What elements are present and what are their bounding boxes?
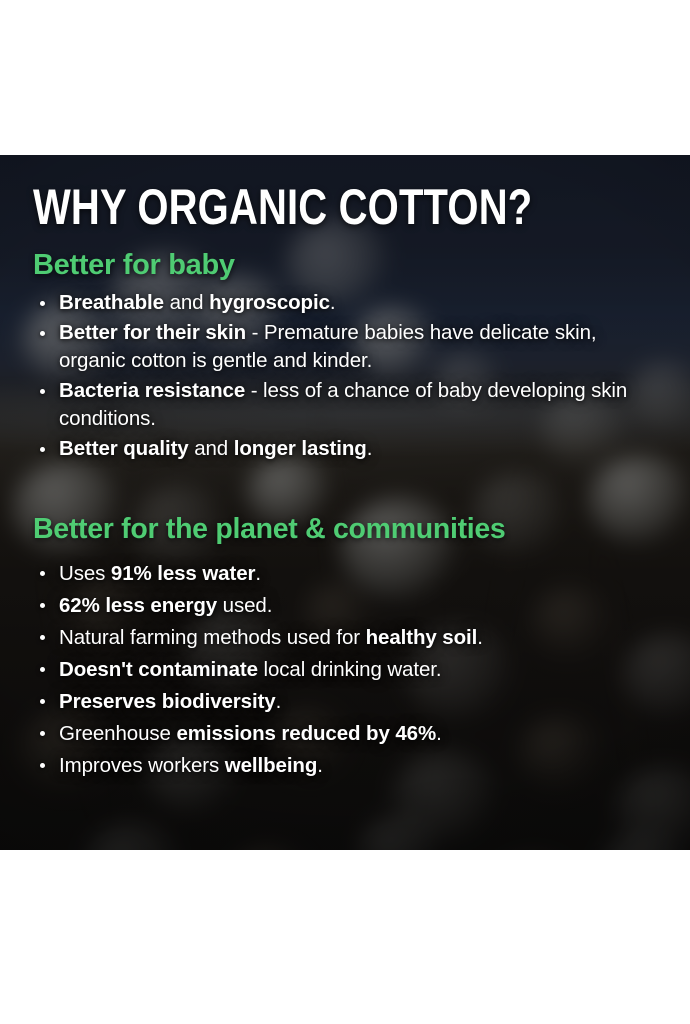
body-text: and	[189, 437, 234, 460]
section-better-for-planet: Better for the planet & communities Uses…	[33, 515, 660, 781]
emphasis-text: longer lasting	[234, 437, 367, 460]
emphasis-text: emissions reduced by 46%	[176, 722, 436, 745]
list-item: Better quality and longer lasting.	[33, 435, 660, 463]
body-text: used.	[217, 594, 272, 617]
list-item: Breathable and hygroscopic.	[33, 289, 660, 317]
section-heading-baby: Better for baby	[33, 250, 660, 280]
emphasis-text: Better quality	[59, 437, 189, 460]
bullet-list-planet: Uses 91% less water.62% less energy used…	[33, 559, 660, 781]
emphasis-text: 91% less water	[111, 562, 255, 585]
body-text: Natural farming methods used for	[59, 626, 366, 649]
body-text: .	[276, 690, 282, 713]
list-item: Preserves biodiversity.	[33, 687, 660, 716]
body-text: .	[255, 562, 261, 585]
list-item: Uses 91% less water.	[33, 559, 660, 588]
list-item: Doesn't contaminate local drinking water…	[33, 655, 660, 684]
list-item: Better for their skin - Premature babies…	[33, 319, 660, 375]
body-text: Improves workers	[59, 754, 225, 777]
list-item: Greenhouse emissions reduced by 46%.	[33, 719, 660, 748]
emphasis-text: hygroscopic	[209, 291, 330, 314]
cotton-boll	[84, 823, 180, 850]
emphasis-text: wellbeing	[225, 754, 318, 777]
emphasis-text: Doesn't contaminate	[59, 658, 258, 681]
infographic-content: WHY ORGANIC COTTON? Better for baby Brea…	[0, 155, 690, 780]
section-heading-planet: Better for the planet & communities	[33, 515, 660, 545]
body-text: .	[477, 626, 483, 649]
bullet-list-baby: Breathable and hygroscopic.Better for th…	[33, 289, 660, 462]
cotton-boll	[358, 815, 438, 850]
section-better-for-baby: Better for baby Breathable and hygroscop…	[33, 250, 660, 463]
list-item: 62% less energy used.	[33, 591, 660, 620]
body-text: local drinking water.	[258, 658, 442, 681]
cotton-boll	[226, 845, 314, 850]
body-text: .	[436, 722, 442, 745]
page-root: WHY ORGANIC COTTON? Better for baby Brea…	[0, 0, 690, 1024]
emphasis-text: Bacteria resistance	[59, 379, 245, 402]
emphasis-text: Preserves biodiversity	[59, 690, 276, 713]
list-item: Natural farming methods used for healthy…	[33, 623, 660, 652]
infographic-panel: WHY ORGANIC COTTON? Better for baby Brea…	[0, 155, 690, 850]
body-text: Uses	[59, 562, 111, 585]
body-text: Greenhouse	[59, 722, 176, 745]
emphasis-text: 62% less energy	[59, 594, 217, 617]
page-title: WHY ORGANIC COTTON?	[33, 182, 535, 232]
body-text: .	[330, 291, 336, 314]
emphasis-text: healthy soil	[366, 626, 478, 649]
body-text: .	[367, 437, 373, 460]
emphasis-text: Breathable	[59, 291, 164, 314]
body-text: and	[164, 291, 209, 314]
emphasis-text: Better for their skin	[59, 321, 246, 344]
list-item: Bacteria resistance - less of a chance o…	[33, 377, 660, 433]
body-text: .	[317, 754, 323, 777]
list-item: Improves workers wellbeing.	[33, 751, 660, 780]
cotton-boll	[600, 831, 686, 850]
